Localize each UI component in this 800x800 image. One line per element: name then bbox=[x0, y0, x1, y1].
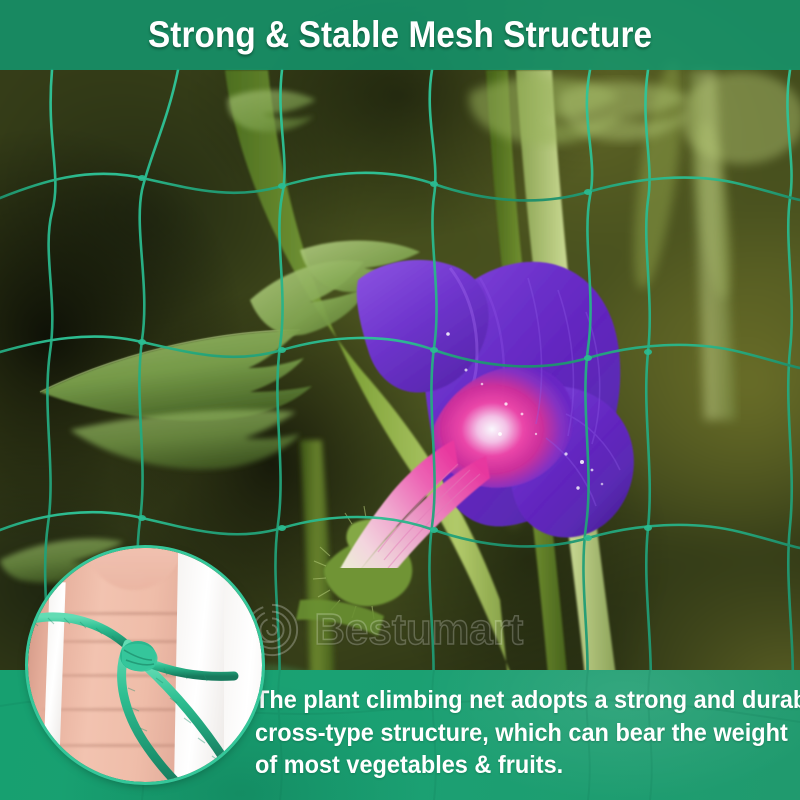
flower-tube-wide bbox=[338, 456, 490, 568]
net-cord-horizontal-1 bbox=[0, 173, 800, 201]
description-line-2: cross-type structure, which can bear the… bbox=[255, 717, 753, 750]
detail-inset-circle bbox=[28, 548, 262, 782]
leaf-left-large bbox=[40, 330, 312, 421]
net-cord-horizontal-3 bbox=[0, 512, 800, 548]
net-cord-vertical-7 bbox=[787, 70, 792, 704]
flower-sepal bbox=[346, 519, 398, 552]
background-blade-3 bbox=[499, 329, 566, 530]
background-blade-2 bbox=[691, 119, 738, 301]
net-cord-horizontal-2 bbox=[0, 337, 800, 368]
background-blade-1 bbox=[624, 59, 692, 292]
petal-crease-2 bbox=[480, 278, 504, 402]
description-text: The plant climbing net adopts a strong a… bbox=[255, 684, 753, 782]
leaf-center-fan bbox=[250, 261, 370, 336]
net-knots bbox=[138, 175, 652, 541]
tube-striations bbox=[378, 464, 480, 568]
description-line-3: of most vegetables & fruits. bbox=[255, 749, 753, 782]
net-knot-closeup-photo bbox=[28, 548, 262, 782]
leaf-upper-center bbox=[300, 240, 422, 292]
flower-calyx bbox=[324, 539, 412, 606]
flower-stalk bbox=[296, 600, 384, 636]
flower-tube bbox=[332, 440, 458, 568]
cord-upper-left bbox=[28, 617, 130, 648]
description-line-1: The plant climbing net adopts a strong a… bbox=[255, 684, 753, 717]
petal-crease-1 bbox=[442, 268, 477, 430]
product-marketing-image: Strong & Stable Mesh Structure Bestumart bbox=[0, 0, 800, 800]
morning-glory-flower bbox=[330, 238, 640, 568]
header-banner: Strong & Stable Mesh Structure bbox=[0, 0, 800, 70]
leaf-top-right-blurred bbox=[469, 77, 620, 145]
flower-petal-upper-left bbox=[357, 260, 489, 393]
leaf-upper-left bbox=[228, 90, 316, 132]
net-knot-cords bbox=[28, 548, 262, 782]
leaf-left-lower bbox=[70, 410, 300, 470]
calyx-hairs bbox=[313, 506, 374, 619]
page-title: Strong & Stable Mesh Structure bbox=[148, 14, 652, 56]
